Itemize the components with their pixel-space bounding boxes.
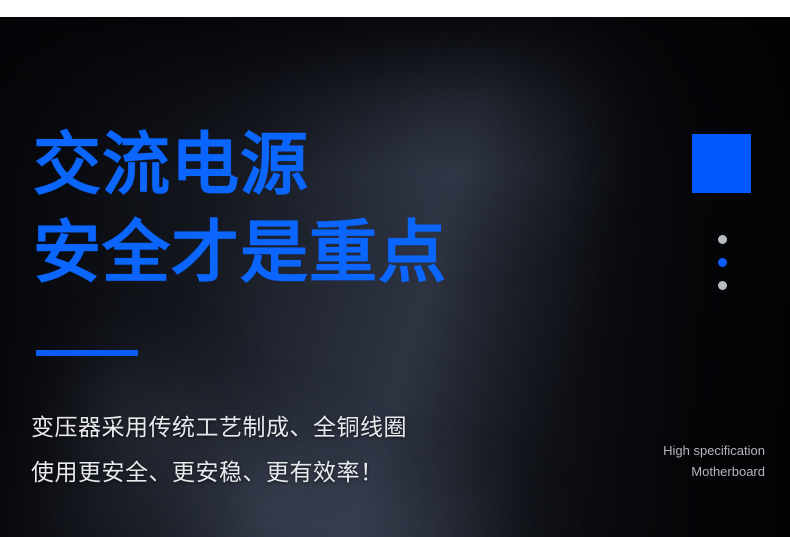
blue-square-accent [692,134,751,193]
product-banner: 交流电源 安全才是重点 变压器采用传统工艺制成、全铜线圈 使用更安全、更安稳、更… [0,0,790,537]
top-white-strip [0,0,790,17]
body-line-1: 变压器采用传统工艺制成、全铜线圈 [31,405,407,450]
body-line-2: 使用更安全、更安稳、更有效率！ [31,450,407,495]
headline-line-1: 交流电源 [33,121,447,209]
english-caption: High specification Motherboard [663,440,765,482]
body-copy: 变压器采用传统工艺制成、全铜线圈 使用更安全、更安稳、更有效率！ [31,405,407,495]
carousel-dots[interactable] [718,235,727,304]
carousel-dot-3[interactable] [718,281,727,290]
carousel-dot-1[interactable] [718,235,727,244]
accent-rule [36,350,138,356]
english-caption-line-2: Motherboard [663,461,765,482]
english-caption-line-1: High specification [663,440,765,461]
carousel-dot-2[interactable] [718,258,727,267]
headline-line-2: 安全才是重点 [33,209,447,297]
headline: 交流电源 安全才是重点 [33,121,447,297]
